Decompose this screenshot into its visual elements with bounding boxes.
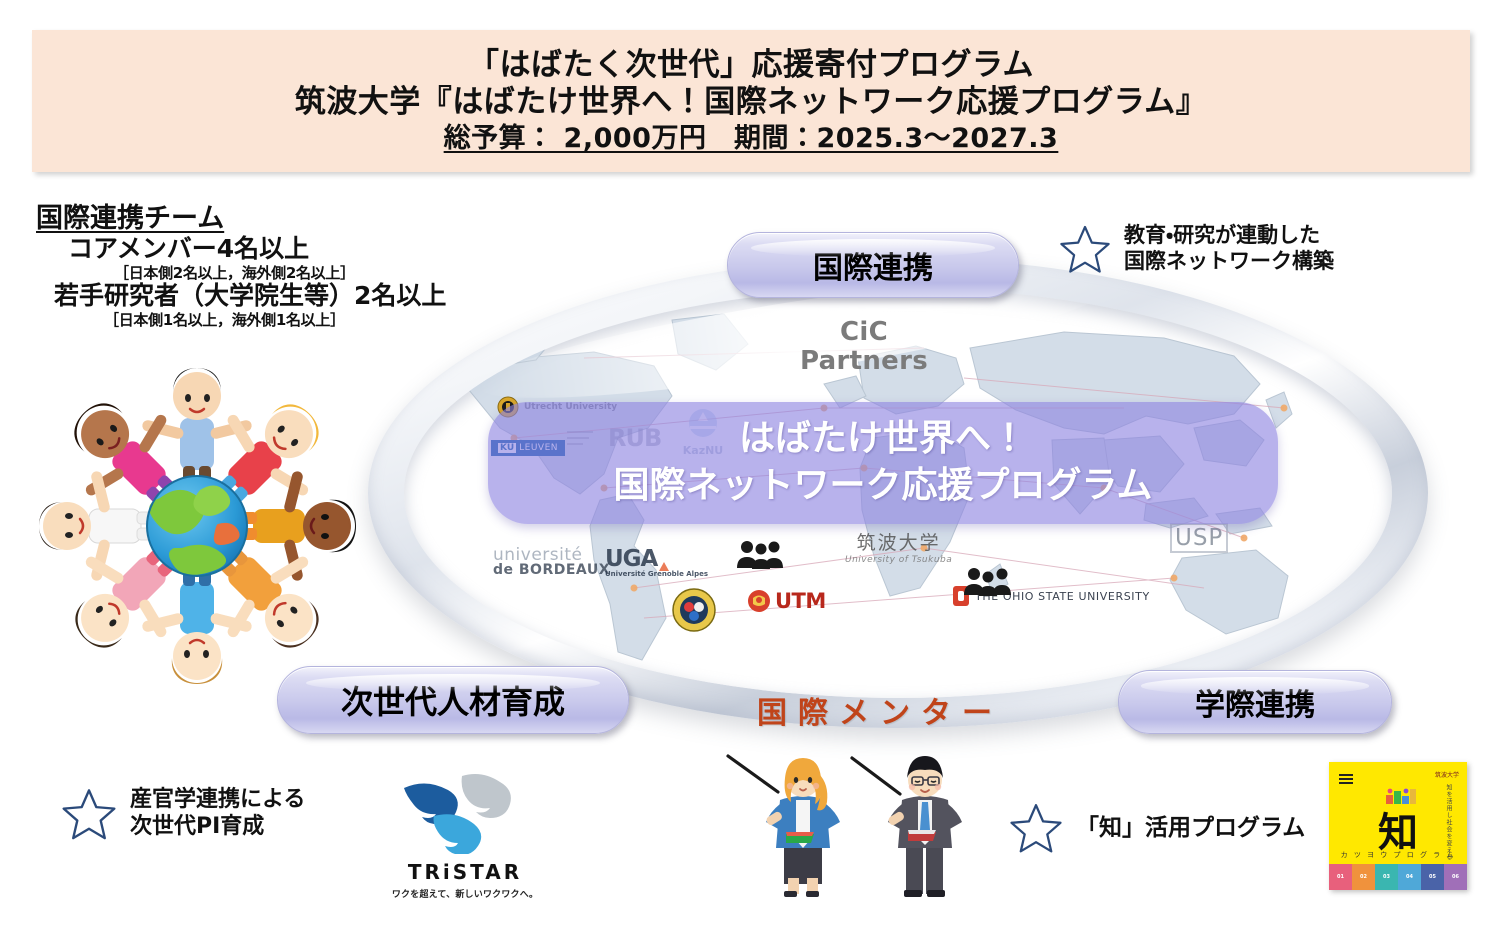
chi-tab-strip: 010203040506 xyxy=(1329,864,1467,890)
chi-tab-06: 06 xyxy=(1444,864,1467,890)
banner-line-2: 国際ネットワーク応援プログラム xyxy=(614,463,1153,510)
note-chi-program: 「知」活用プログラム xyxy=(1008,800,1305,856)
note-sangaku-line1: 産官学連携による xyxy=(130,787,305,814)
pill-jisedai-jinzai-ikusei[interactable]: 次世代人材育成 xyxy=(277,666,629,734)
pill-kokusai-label: 国際連携 xyxy=(813,243,933,287)
children-around-globe-illustration xyxy=(32,358,362,693)
logo-usp: USP xyxy=(1170,525,1228,551)
teachers-illustration xyxy=(722,748,972,900)
cic-line2: Partners xyxy=(800,347,928,376)
star-icon xyxy=(60,785,118,843)
utm-crest-icon xyxy=(747,589,771,613)
people-group-icon-americas xyxy=(962,565,1012,601)
logo-uga: UGA Université Grenoble Alpes xyxy=(605,546,708,578)
header-banner: 「はばたく次世代」応援寄付プログラム 筑波大学『はばたけ世界へ！国際ネットワーク… xyxy=(32,30,1470,172)
menu-icon xyxy=(1339,772,1353,786)
note-sangaku-line2: 次世代PI育成 xyxy=(130,814,305,841)
tsukuba-badge-label: 筑波大学 xyxy=(1435,770,1459,779)
tsukuba-en-label: University of Tsukuba xyxy=(845,555,952,565)
usp-label: USP xyxy=(1170,523,1228,553)
pill-gakusai-label: 学際連携 xyxy=(1195,680,1315,724)
logo-partner-seal xyxy=(672,588,716,636)
header-line-2: 筑波大学『はばたけ世界へ！国際ネットワーク応援プログラム』 xyxy=(295,84,1208,121)
star-icon xyxy=(1058,222,1112,276)
bordeaux-line2: de BORDEAUX xyxy=(493,562,610,578)
cic-line1: CiC xyxy=(800,318,928,347)
uga-sub: Université Grenoble Alpes xyxy=(605,570,708,578)
cic-partners-label: CiC Partners xyxy=(800,318,928,376)
utm-label: UTM xyxy=(775,589,826,613)
note-chi-line1: 「知」活用プログラム xyxy=(1076,814,1305,842)
star-icon xyxy=(1008,800,1064,856)
tsukuba-jp-label: 筑波大学 xyxy=(845,528,952,555)
pill-gakusai-renkei[interactable]: 学際連携 xyxy=(1118,670,1392,734)
note-sangaku-renkei: 産官学連携による 次世代PI育成 xyxy=(60,785,305,843)
chi-program-book-cover: 筑波大学 知 カ ツ ヨ ウ プ ロ グ ラ ム 知を活用し社会を変える 010… xyxy=(1329,762,1467,890)
logo-universite-de-bordeaux: université de BORDEAUX xyxy=(493,545,610,578)
program-title-banner: はばたけ世界へ！ 国際ネットワーク応援プログラム xyxy=(488,402,1278,524)
logo-utm: UTM xyxy=(747,589,826,613)
tristar-name: TRiSTAR xyxy=(385,860,545,884)
note-network-line2: 国際ネットワーク構築 xyxy=(1124,249,1334,275)
pill-jisedai-label: 次世代人材育成 xyxy=(341,677,565,723)
team-title: 国際連携チーム xyxy=(36,196,506,235)
banner-line-1: はばたけ世界へ！ xyxy=(739,416,1027,463)
people-group-icon-asia xyxy=(735,538,783,574)
header-line-1: 「はばたく次世代」応援寄付プログラム xyxy=(468,47,1034,84)
pill-kokusai-renkei[interactable]: 国際連携 xyxy=(727,232,1019,298)
tristar-birds-icon xyxy=(390,772,540,854)
uga-label: UGA xyxy=(605,546,657,572)
partner-seal-icon xyxy=(672,588,716,632)
logo-university-of-tsukuba: 筑波大学 University of Tsukuba xyxy=(845,528,952,565)
chi-tab-03: 03 xyxy=(1375,864,1398,890)
chi-tab-02: 02 xyxy=(1352,864,1375,890)
note-network-line1: 教育・研究が連動した xyxy=(1124,223,1334,249)
chi-tab-04: 04 xyxy=(1398,864,1421,890)
header-line-3: 総予算： 2,000万円 期間：2025.3〜2027.3 xyxy=(444,123,1059,155)
tristar-tagline: ワクを超えて、新しいワクワクへ。 xyxy=(385,887,545,900)
chi-side-text: 知を活用し社会を変える xyxy=(1444,784,1453,861)
note-network-construction: 教育・研究が連動した 国際ネットワーク構築 xyxy=(1058,222,1334,276)
international-mentor-label: 国際メンター xyxy=(700,688,1060,732)
chi-tab-05: 05 xyxy=(1421,864,1444,890)
tristar-logo: TRiSTAR ワクを超えて、新しいワクワクへ。 xyxy=(385,772,545,900)
chi-tab-01: 01 xyxy=(1329,864,1352,890)
